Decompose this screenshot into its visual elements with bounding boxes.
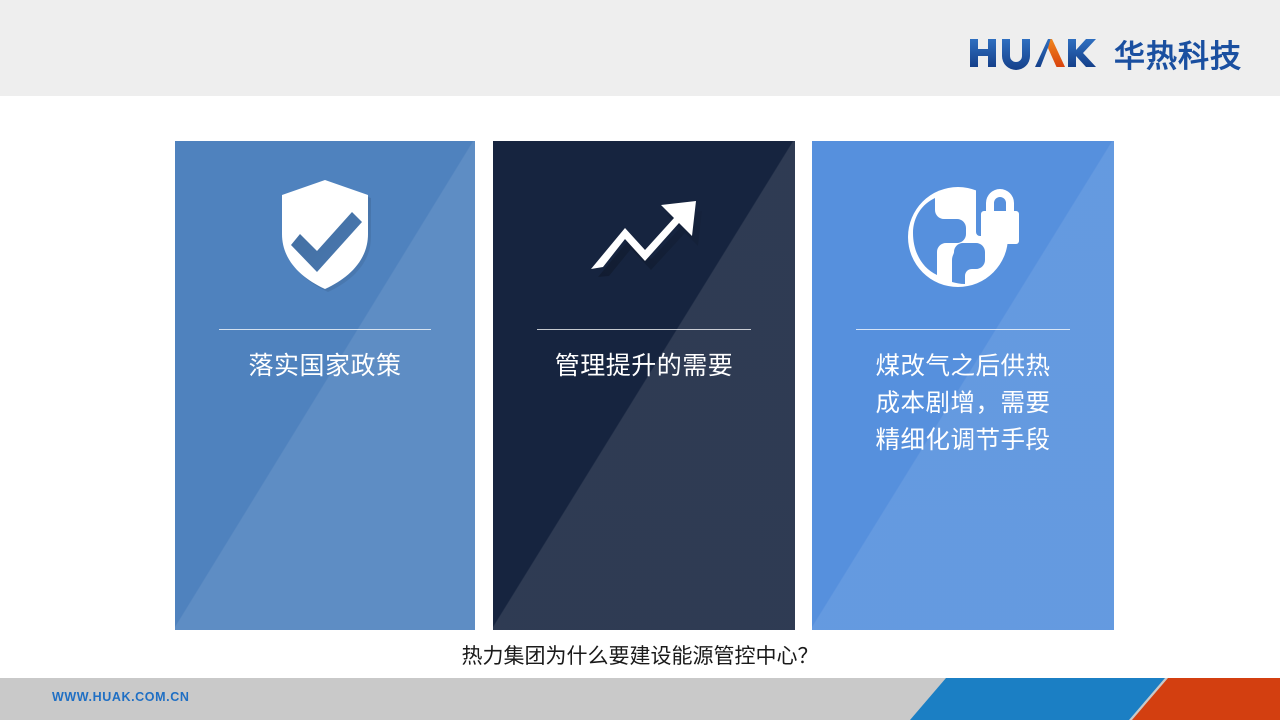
card-2-icon-slot	[493, 165, 795, 305]
slide-caption: 热力集团为什么要建设能源管控中心？	[0, 640, 1280, 670]
shield-check-icon	[272, 176, 378, 294]
card-3-icon-slot	[812, 165, 1114, 305]
card-1-title: 落实国家政策	[193, 347, 457, 384]
reason-card-3[interactable]: 煤改气之后供热 成本剧增，需要 精细化调节手段	[812, 141, 1114, 630]
reason-card-1[interactable]: 落实国家政策	[175, 141, 475, 630]
trending-up-arrow-icon	[585, 187, 703, 283]
card-1-icon-slot	[175, 165, 475, 305]
footer-website-url[interactable]: WWW.HUAK.COM.CN	[52, 690, 189, 704]
card-3-divider	[856, 329, 1070, 330]
card-2-title: 管理提升的需要	[511, 347, 777, 384]
footer-bar: WWW.HUAK.COM.CN	[0, 678, 1280, 720]
reason-cards: 落实国家政策 管理提升的需要	[175, 141, 1114, 630]
card-2-divider	[537, 329, 751, 330]
globe-lock-icon	[902, 176, 1024, 294]
huak-wordmark-icon	[968, 35, 1100, 71]
company-logo: 华热科技	[968, 30, 1242, 76]
card-3-title: 煤改气之后供热 成本剧增，需要 精细化调节手段	[830, 347, 1096, 458]
logo-chinese-text: 华热科技	[1114, 31, 1242, 76]
card-1-divider	[219, 329, 431, 330]
reason-card-2[interactable]: 管理提升的需要	[493, 141, 795, 630]
footer-accent-shapes-icon	[880, 678, 1280, 720]
